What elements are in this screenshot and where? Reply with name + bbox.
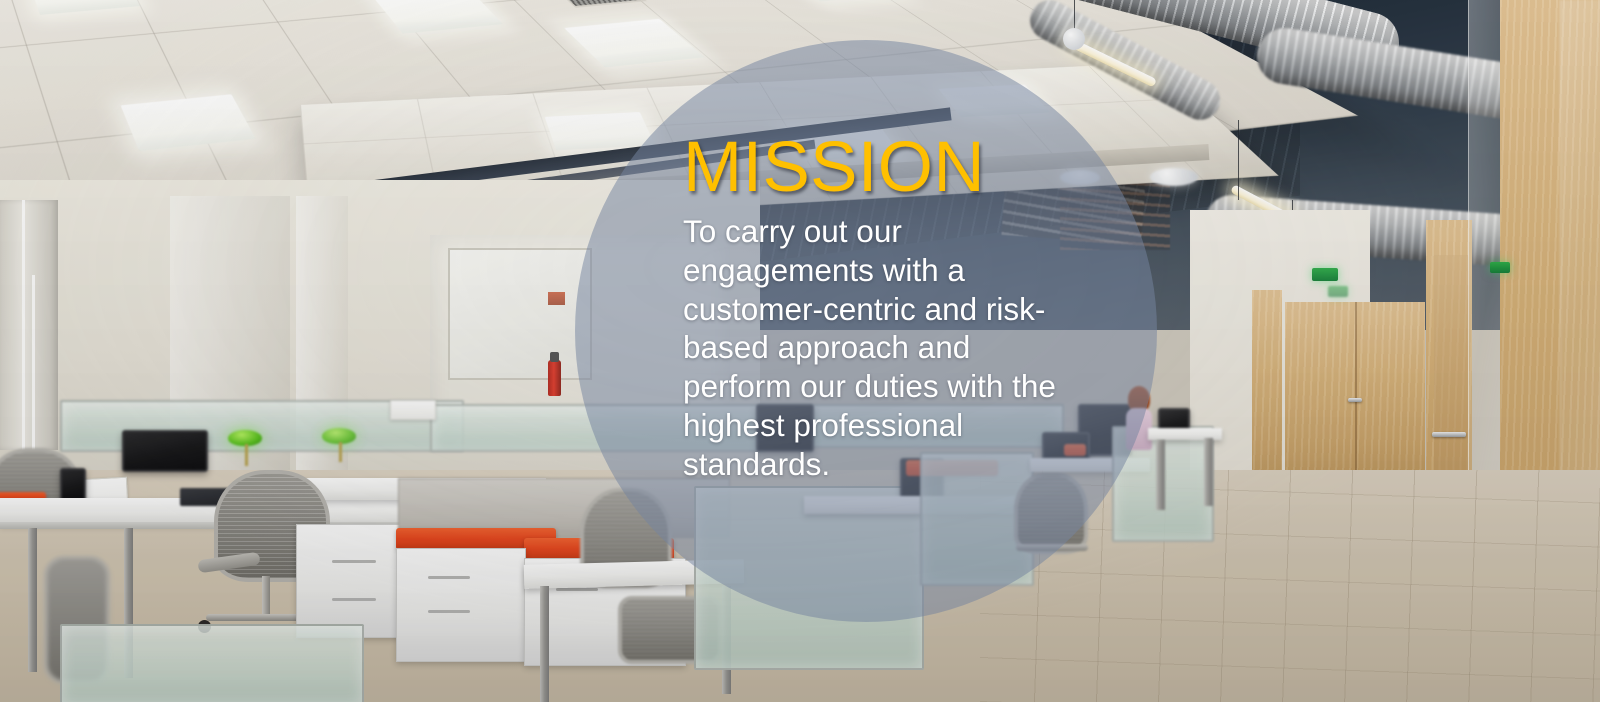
duct-diffuser — [1150, 168, 1198, 186]
drawer-pull — [428, 610, 470, 613]
fire-extinguisher — [548, 360, 561, 396]
fire-extinguisher-head — [550, 352, 559, 362]
blind-slit — [32, 275, 35, 451]
desk-photo-frame — [390, 400, 436, 420]
door-seam — [1355, 302, 1357, 488]
slide-canvas: MISSION To carry out our engagements wit… — [0, 0, 1600, 702]
pendant-wire — [1238, 120, 1239, 200]
window-blind — [0, 200, 58, 450]
fire-sign — [548, 292, 565, 305]
file-cabinet — [396, 548, 526, 662]
door-handle — [1432, 432, 1466, 437]
soffit-light-panel — [545, 112, 655, 150]
drawer-pull — [428, 576, 470, 579]
desk-leg — [1156, 440, 1165, 510]
mission-statement-text: To carry out our engagements with a cust… — [683, 212, 1075, 484]
desk-leg — [540, 586, 549, 702]
exit-sign — [1490, 262, 1510, 273]
desk-lamp-stem — [339, 442, 342, 462]
blind-slit — [22, 200, 25, 450]
interior-window — [448, 248, 592, 380]
exit-sign — [1312, 268, 1338, 281]
mission-text-block: MISSION To carry out our engagements wit… — [683, 131, 1113, 484]
desk-leg — [1204, 438, 1213, 506]
exit-sign-secondary — [1328, 286, 1348, 297]
desk-lamp-stem — [245, 444, 248, 466]
pendant-canopy — [1063, 28, 1085, 50]
task-chair-base — [1016, 544, 1088, 551]
monitor — [122, 430, 208, 472]
drawer-pull — [556, 588, 598, 591]
task-chair-post — [262, 576, 270, 618]
desk-leg — [28, 528, 37, 672]
page-title: MISSION — [683, 131, 1113, 205]
task-chair — [1014, 472, 1088, 554]
drawer-pull — [332, 560, 376, 563]
door-handle — [1348, 398, 1362, 402]
drawer-pull — [332, 598, 376, 601]
wood-door-frame — [1252, 290, 1282, 490]
cubicle-glass-partition — [60, 624, 364, 702]
